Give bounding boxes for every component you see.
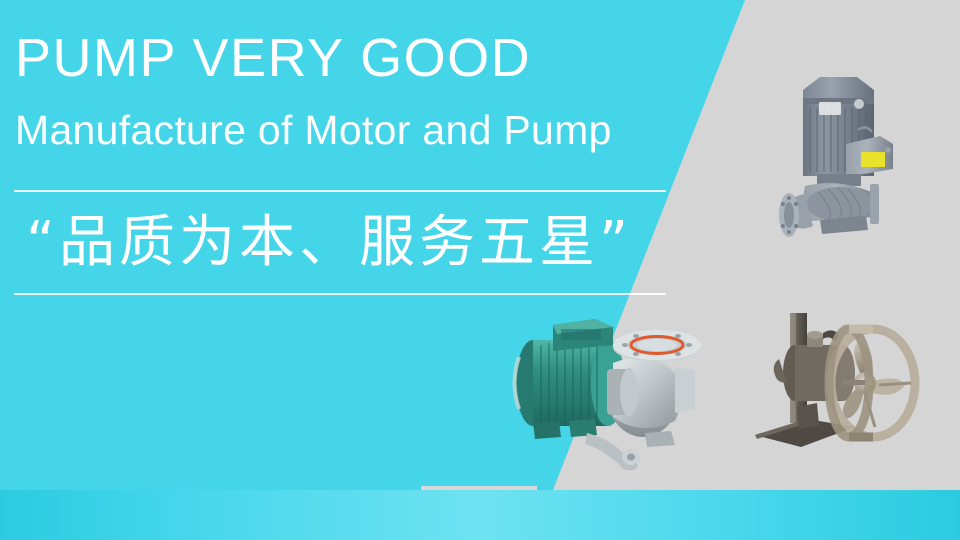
- divider-line-top: [14, 190, 666, 192]
- banner-slogan: “品质为本、服务五星”: [26, 205, 632, 281]
- banner-subtitle: Manufacture of Motor and Pump: [15, 106, 612, 154]
- promo-banner: PUMP VERY GOOD Manufacture of Motor and …: [0, 0, 960, 540]
- divider-line-bottom: [14, 293, 666, 295]
- product-image-inline-pump: [762, 52, 912, 237]
- product-image-submersible-mixer: [745, 295, 925, 450]
- product-image-centrifugal-pump: [495, 305, 720, 475]
- banner-title: PUMP VERY GOOD: [15, 28, 531, 88]
- bottom-accent-bar: [0, 490, 960, 540]
